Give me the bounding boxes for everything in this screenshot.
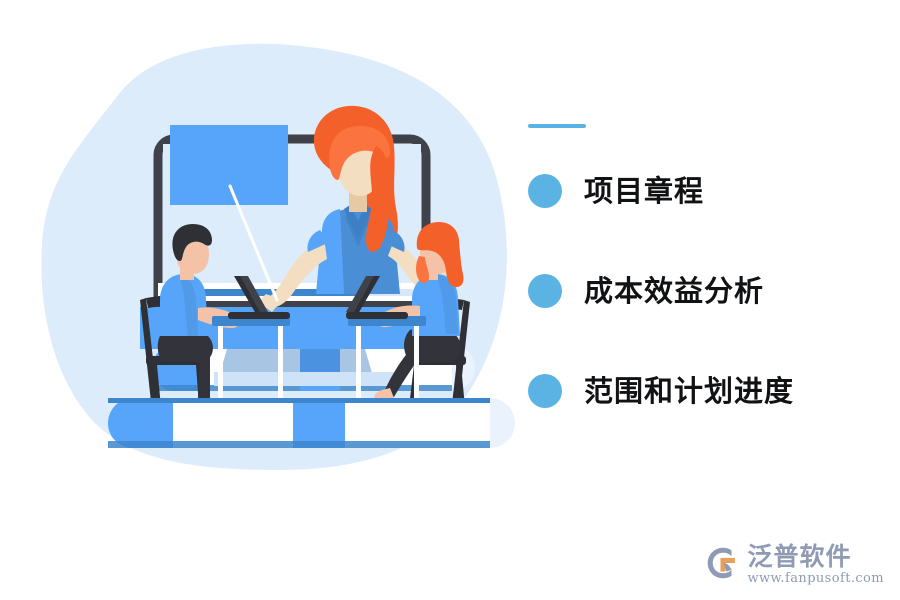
list-item-label: 项目章程 bbox=[584, 177, 704, 206]
fanpu-swoosh-logo-icon bbox=[706, 546, 740, 580]
brand-name: 泛普软件 bbox=[747, 544, 851, 570]
bullet-dot-icon bbox=[528, 274, 562, 308]
infographic-canvas: 项目章程 成本效益分析 范围和计划进度 泛普软件 www.fanpusoft.c… bbox=[0, 0, 900, 600]
monitor-stand-front bbox=[214, 372, 400, 386]
list-item[interactable]: 范围和计划进度 bbox=[528, 374, 794, 408]
logo-text-block: 泛普软件 www.fanpusoft.com bbox=[747, 544, 884, 586]
accent-rule bbox=[528, 124, 586, 128]
list-item[interactable]: 成本效益分析 bbox=[528, 274, 764, 308]
brand-logo: 泛普软件 www.fanpusoft.com bbox=[706, 544, 884, 586]
bullet-dot-icon bbox=[528, 174, 562, 208]
bullet-list-panel: 项目章程 成本效益分析 范围和计划进度 bbox=[528, 112, 888, 432]
list-item[interactable]: 项目章程 bbox=[528, 174, 704, 208]
list-item-label: 范围和计划进度 bbox=[584, 377, 794, 406]
brand-url: www.fanpusoft.com bbox=[747, 571, 884, 586]
classroom-illustration bbox=[0, 0, 540, 520]
bullet-dot-icon bbox=[528, 374, 562, 408]
presentation-board bbox=[170, 125, 288, 205]
book-stack-lower bbox=[108, 398, 515, 448]
list-item-label: 成本效益分析 bbox=[584, 277, 764, 306]
